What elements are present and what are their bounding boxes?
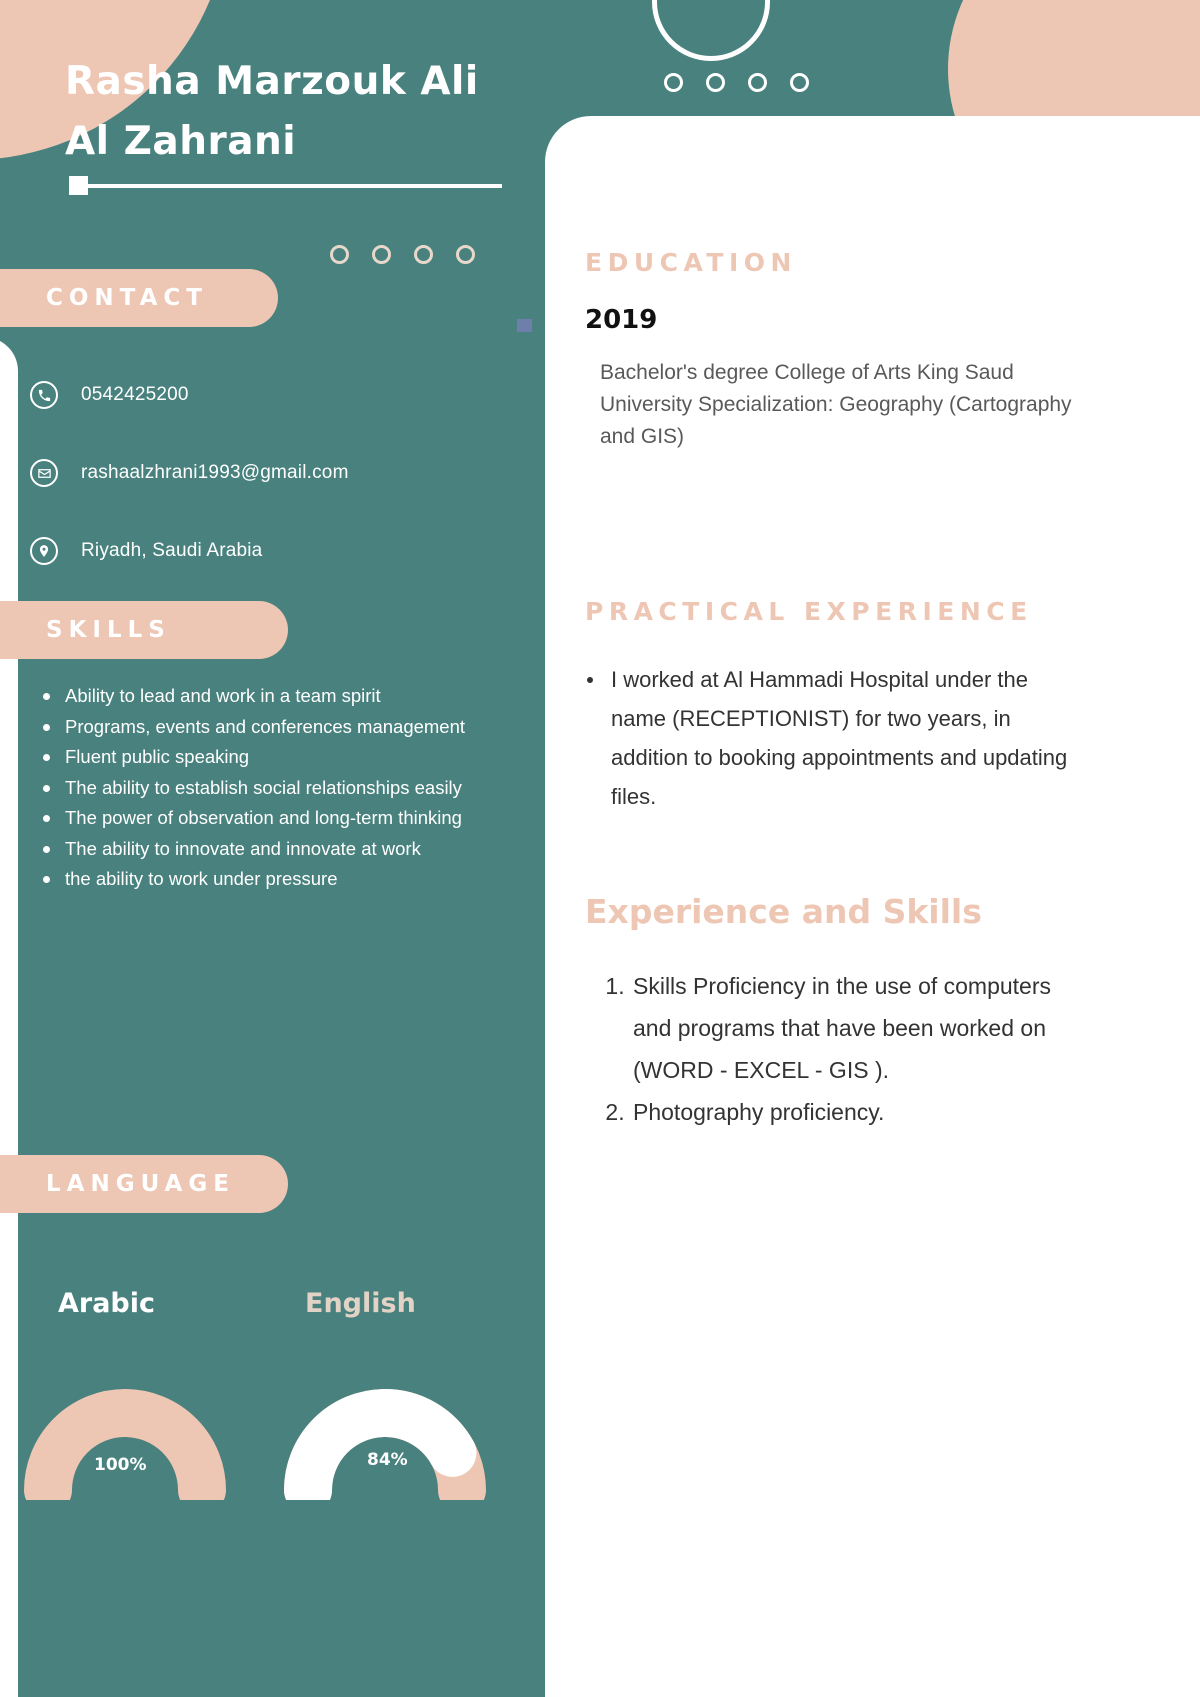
section-heading-language: LANGUAGE: [0, 1155, 288, 1213]
experience-and-skills-list: Skills Proficiency in the use of compute…: [585, 965, 1085, 1133]
practical-experience-list: I worked at Al Hammadi Hospital under th…: [585, 660, 1085, 816]
gauge-arabic: [18, 1370, 233, 1505]
candidate-name: Rasha Marzouk Ali Al Zahrani: [65, 52, 535, 172]
section-heading-skills: SKILLS: [0, 601, 288, 659]
language-label-english: English: [305, 1288, 416, 1319]
location-value: Riyadh, Saudi Arabia: [81, 540, 262, 562]
language-heading-label: LANGUAGE: [46, 1171, 235, 1197]
language-gauges: Arabic English: [0, 1270, 545, 1600]
list-item: The ability to establish social relation…: [36, 773, 506, 804]
section-heading-contact: CONTACT: [0, 269, 278, 327]
language-label-arabic: Arabic: [58, 1288, 155, 1319]
ring-dots-top: [664, 73, 809, 92]
list-item: the ability to work under pressure: [36, 864, 506, 895]
education-entry: 2019 Bachelor's degree College of Arts K…: [585, 305, 1085, 453]
email-icon: [30, 459, 58, 487]
ring-dot-icon: [664, 73, 683, 92]
list-item: Ability to lead and work in a team spiri…: [36, 681, 506, 712]
skills-list: Ability to lead and work in a team spiri…: [36, 681, 506, 895]
education-year: 2019: [585, 305, 1085, 335]
list-item: Photography proficiency.: [631, 1091, 1085, 1133]
list-item: The power of observation and long-term t…: [36, 803, 506, 834]
list-item: I worked at Al Hammadi Hospital under th…: [585, 660, 1085, 816]
phone-icon: [30, 381, 58, 409]
square-bullet-icon: [517, 319, 532, 332]
gauge-english: [278, 1370, 493, 1505]
contact-heading-label: CONTACT: [46, 285, 208, 311]
section-heading-practical-experience: PRACTICAL EXPERIENCE: [585, 597, 1033, 626]
contact-item-location[interactable]: Riyadh, Saudi Arabia: [30, 530, 520, 572]
education-description: Bachelor's degree College of Arts King S…: [600, 357, 1085, 453]
ring-dot-icon: [748, 73, 767, 92]
contact-list: 0542425200 rashaalzhrani1993@gmail.com R…: [30, 374, 520, 608]
list-item: Fluent public speaking: [36, 742, 506, 773]
gauge-percent-arabic: 100%: [94, 1455, 147, 1475]
name-underline-cap: [69, 176, 88, 195]
contact-item-phone[interactable]: 0542425200: [30, 374, 520, 416]
list-item: Programs, events and conferences managem…: [36, 712, 506, 743]
ring-dots-sidebar: [330, 245, 475, 264]
section-heading-education: EDUCATION: [585, 248, 797, 277]
section-heading-experience-and-skills: Experience and Skills: [585, 892, 982, 931]
ring-dot-icon: [790, 73, 809, 92]
ring-dot-icon: [414, 245, 433, 264]
email-value: rashaalzhrani1993@gmail.com: [81, 462, 349, 484]
location-pin-icon: [30, 537, 58, 565]
skills-heading-label: SKILLS: [46, 617, 171, 643]
name-underline: [72, 184, 502, 188]
ring-dot-icon: [330, 245, 349, 264]
gauge-percent-english: 84%: [367, 1450, 408, 1470]
name-line-1: Rasha Marzouk Ali: [65, 52, 535, 112]
name-line-2: Al Zahrani: [65, 112, 535, 172]
phone-value: 0542425200: [81, 384, 189, 406]
ring-dot-icon: [372, 245, 391, 264]
contact-item-email[interactable]: rashaalzhrani1993@gmail.com: [30, 452, 520, 494]
ring-dot-icon: [706, 73, 725, 92]
ring-dot-icon: [456, 245, 475, 264]
list-item: Skills Proficiency in the use of compute…: [631, 965, 1085, 1091]
list-item: The ability to innovate and innovate at …: [36, 834, 506, 865]
resume-page: Rasha Marzouk Ali Al Zahrani CONTACT 054…: [0, 0, 1200, 1697]
